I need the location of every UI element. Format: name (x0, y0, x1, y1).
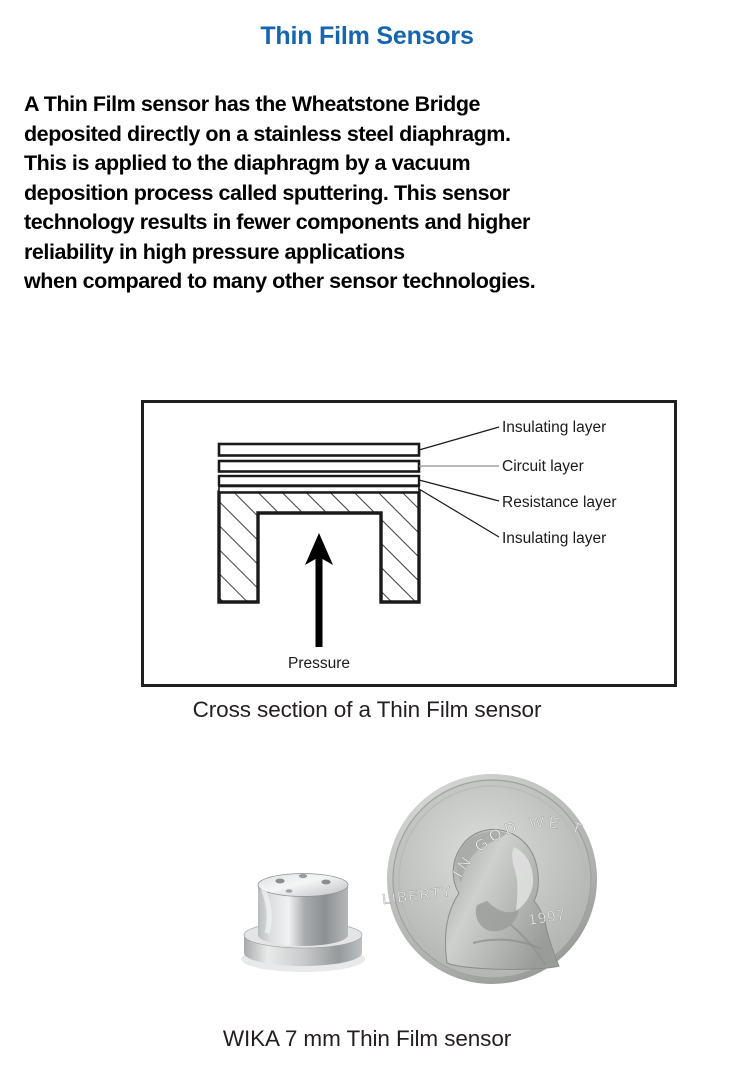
label-insulating-top: Insulating layer (502, 419, 606, 436)
label-circuit: Circuit layer (502, 458, 584, 475)
leader-insulating-bottom (419, 489, 499, 537)
leader-insulating-top (419, 427, 499, 450)
page-title: Thin Film Sensors (0, 22, 734, 51)
sensor-photo-image: IN GOD WE TRUST LIBERTY 1997 (211, 763, 607, 1000)
sensor-photo-figure: IN GOD WE TRUST LIBERTY 1997 (211, 763, 607, 1000)
label-pressure: Pressure (288, 655, 350, 672)
cross-section-figure: Insulating layer Circuit layer Resistanc… (141, 400, 677, 687)
label-resistance: Resistance layer (502, 494, 617, 511)
cross-section-drawing: Insulating layer Circuit layer Resistanc… (141, 400, 677, 687)
caption-sensor-photo: WIKA 7 mm Thin Film sensor (0, 1026, 734, 1052)
layer-insulating-bottom (219, 487, 419, 493)
pressure-arrow-icon (305, 533, 333, 647)
layer-resistance (219, 476, 419, 486)
body-paragraph: A Thin Film sensor has the Wheatstone Br… (24, 90, 724, 297)
leader-resistance (419, 480, 499, 501)
layer-circuit (219, 461, 419, 472)
caption-cross-section: Cross section of a Thin Film sensor (0, 697, 734, 723)
thin-film-sensor-object (241, 874, 365, 973)
layer-insulating-top (219, 444, 419, 456)
label-insulating-bottom: Insulating layer (502, 530, 606, 547)
